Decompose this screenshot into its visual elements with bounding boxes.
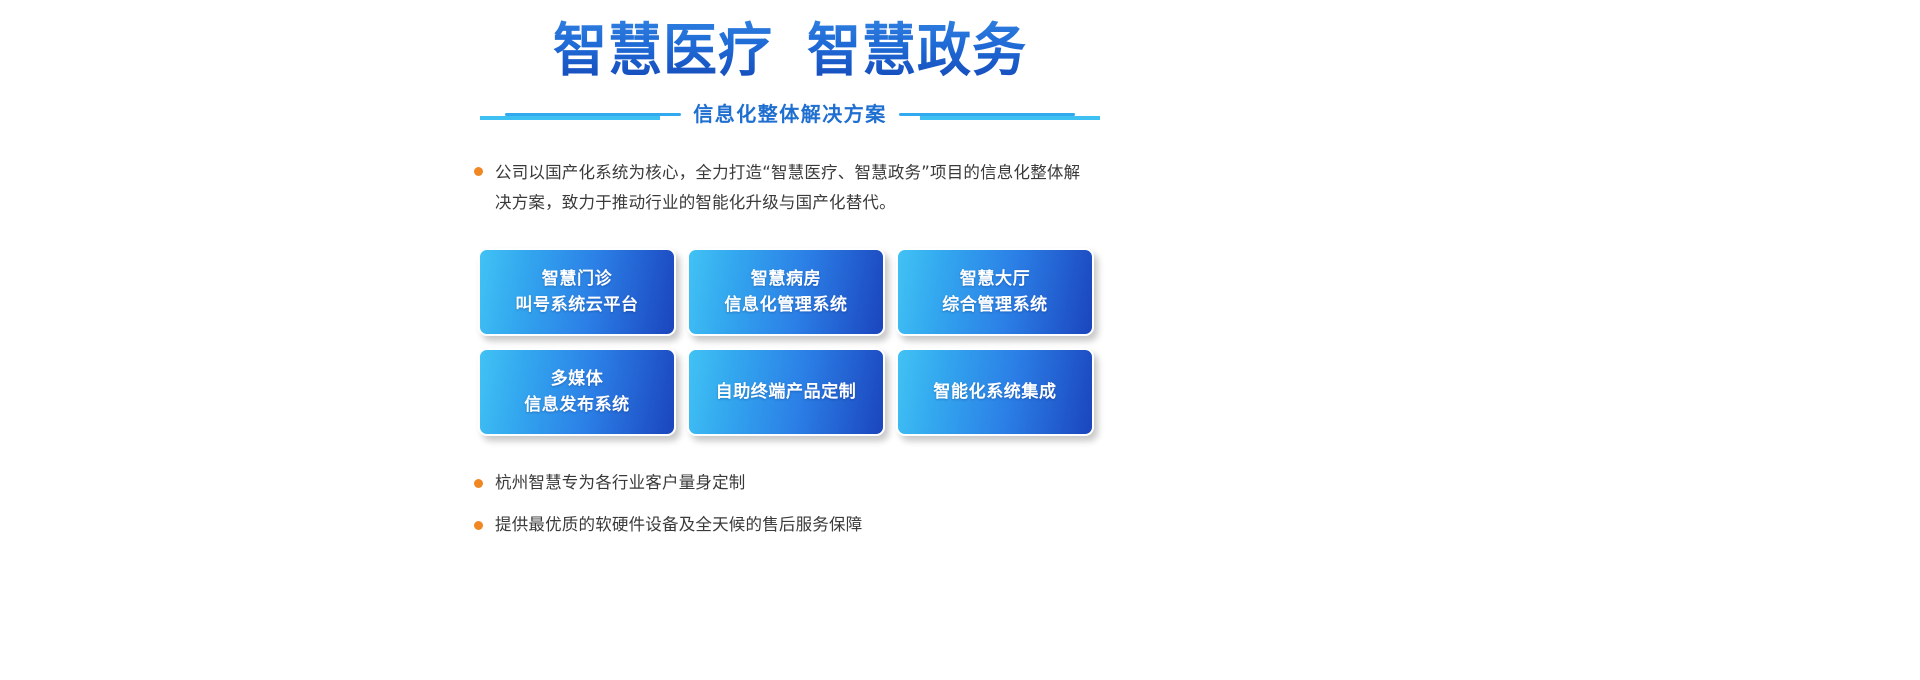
tile-card[interactable]: 智慧门诊叫号系统云平台 [478,248,676,336]
poster-content: 智慧医疗智慧政务 信息化整体解决方案 公司以国产化系统为核心，全力打造“智慧医疗… [470,0,1110,680]
tile-label: 自助终端产品定制 [710,379,863,405]
bullet-dot-icon [474,521,483,530]
tile-card[interactable]: 自助终端产品定制 [687,348,885,436]
title-part-2: 智慧政务 [807,18,1027,84]
subtitle-rule-left [505,113,681,116]
tile-label-line2: 叫号系统云平台 [515,292,638,318]
subtitle-rule-right [899,113,1075,116]
tile-label-line1: 智慧病房 [751,269,821,289]
intro-paragraph: 公司以国产化系统为核心，全力打造“智慧医疗、智慧政务”项目的信息化整体解决方案，… [474,158,1088,218]
intro-text: 公司以国产化系统为核心，全力打造“智慧医疗、智慧政务”项目的信息化整体解决方案，… [495,158,1088,218]
bullet-text: 杭州智慧专为各行业客户量身定制 [495,470,746,496]
list-item: 提供最优质的软硬件设备及全天候的售后服务保障 [474,512,1088,538]
bullet-text: 提供最优质的软硬件设备及全天候的售后服务保障 [495,512,862,538]
bullet-dot-icon [474,167,483,176]
tile-label-line2: 综合管理系统 [942,292,1048,318]
subtitle: 信息化整体解决方案 [470,100,1110,128]
tile-label-line2: 信息发布系统 [524,392,630,418]
poster-canvas: 智慧医疗智慧政务 信息化整体解决方案 公司以国产化系统为核心，全力打造“智慧医疗… [0,0,1920,680]
bullet-dot-icon [474,479,483,488]
tile-label-line1: 智慧大厅 [960,269,1030,289]
tile-label: 智能化系统集成 [927,379,1062,405]
bullet-list: 杭州智慧专为各行业客户量身定制 提供最优质的软硬件设备及全天候的售后服务保障 [474,470,1088,554]
tile-label: 多媒体信息发布系统 [518,366,636,418]
tile-card[interactable]: 智慧病房信息化管理系统 [687,248,885,336]
tile-card[interactable]: 智能化系统集成 [896,348,1094,436]
tile-card[interactable]: 多媒体信息发布系统 [478,348,676,436]
header: 智慧医疗智慧政务 信息化整体解决方案 [470,0,1110,150]
tile-label: 智慧病房信息化管理系统 [718,266,853,318]
title-part-1: 智慧医疗 [553,18,773,84]
tile-label-line2: 信息化管理系统 [724,292,847,318]
tile-card[interactable]: 智慧大厅综合管理系统 [896,248,1094,336]
tile-label: 智慧门诊叫号系统云平台 [509,266,644,318]
tile-label-line1: 智慧门诊 [542,269,612,289]
tile-label-line1: 多媒体 [551,369,604,389]
page-title: 智慧医疗智慧政务 [470,18,1110,80]
tile-label-line1: 智能化系统集成 [933,382,1056,402]
list-item: 杭州智慧专为各行业客户量身定制 [474,470,1088,496]
subtitle-text: 信息化整体解决方案 [693,100,887,128]
tile-label-line1: 自助终端产品定制 [716,382,857,402]
tile-label: 智慧大厅综合管理系统 [936,266,1054,318]
solution-tiles: 智慧门诊叫号系统云平台 智慧病房信息化管理系统 智慧大厅综合管理系统 多媒体信息… [478,248,1094,436]
